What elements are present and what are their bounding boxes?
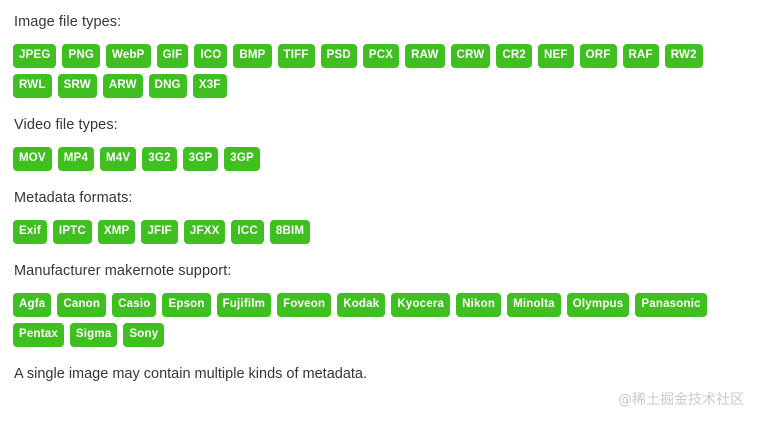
format-badge: CRW bbox=[451, 44, 491, 68]
format-badge: JFIF bbox=[141, 220, 177, 244]
format-badge: Kodak bbox=[337, 293, 385, 317]
format-badge: DNG bbox=[149, 74, 187, 98]
section-heading: Manufacturer makernote support: bbox=[14, 262, 746, 281]
format-badge: WebP bbox=[106, 44, 151, 68]
format-badge: TIFF bbox=[278, 44, 315, 68]
format-badge: ORF bbox=[580, 44, 617, 68]
section-heading: Metadata formats: bbox=[14, 189, 746, 208]
format-badge: Olympus bbox=[567, 293, 630, 317]
format-badge: MP4 bbox=[58, 147, 94, 171]
badge-row: JPEGPNGWebPGIFICOBMPTIFFPSDPCXRAWCRWCR2N… bbox=[13, 44, 746, 98]
section-makernote-support: Manufacturer makernote support:AgfaCanon… bbox=[13, 262, 746, 347]
format-badge: Agfa bbox=[13, 293, 51, 317]
format-badge: MOV bbox=[13, 147, 52, 171]
format-badge: X3F bbox=[193, 74, 227, 98]
format-badge: PSD bbox=[321, 44, 357, 68]
format-badge: PNG bbox=[62, 44, 100, 68]
badge-row: ExifIPTCXMPJFIFJFXXICC8BIM bbox=[13, 220, 746, 244]
format-badge: SRW bbox=[58, 74, 97, 98]
format-badge: Panasonic bbox=[635, 293, 706, 317]
format-badge: GIF bbox=[157, 44, 189, 68]
badge-row: AgfaCanonCasioEpsonFujifilmFoveonKodakKy… bbox=[13, 293, 746, 347]
format-badge: NEF bbox=[538, 44, 574, 68]
section-image-file-types: Image file types:JPEGPNGWebPGIFICOBMPTIF… bbox=[13, 13, 746, 98]
format-badge: RAW bbox=[405, 44, 444, 68]
document-body: Image file types:JPEGPNGWebPGIFICOBMPTIF… bbox=[0, 0, 758, 423]
format-badge: IPTC bbox=[53, 220, 92, 244]
format-badge: RAF bbox=[623, 44, 659, 68]
format-badge: CR2 bbox=[496, 44, 532, 68]
badge-row: MOVMP4M4V3G23GP3GP bbox=[13, 147, 746, 171]
format-badge: Epson bbox=[162, 293, 210, 317]
sections-container: Image file types:JPEGPNGWebPGIFICOBMPTIF… bbox=[13, 13, 746, 347]
format-badge: Sony bbox=[123, 323, 164, 347]
format-badge: 8BIM bbox=[270, 220, 310, 244]
format-badge: Canon bbox=[57, 293, 106, 317]
format-badge: M4V bbox=[100, 147, 136, 171]
format-badge: Exif bbox=[13, 220, 47, 244]
format-badge: Nikon bbox=[456, 293, 501, 317]
format-badge: RWL bbox=[13, 74, 52, 98]
section-heading: Video file types: bbox=[14, 116, 746, 135]
format-badge: 3GP bbox=[224, 147, 260, 171]
format-badge: Casio bbox=[112, 293, 156, 317]
section-metadata-formats: Metadata formats:ExifIPTCXMPJFIFJFXXICC8… bbox=[13, 189, 746, 244]
format-badge: ARW bbox=[103, 74, 143, 98]
format-badge: ICC bbox=[231, 220, 263, 244]
format-badge: Sigma bbox=[70, 323, 118, 347]
format-badge: 3G2 bbox=[142, 147, 176, 171]
format-badge: Kyocera bbox=[391, 293, 450, 317]
section-heading: Image file types: bbox=[14, 13, 746, 32]
format-badge: BMP bbox=[233, 44, 271, 68]
footer-note: A single image may contain multiple kind… bbox=[14, 365, 746, 384]
format-badge: JFXX bbox=[184, 220, 226, 244]
format-badge: RW2 bbox=[665, 44, 703, 68]
watermark: @稀土掘金技术社区 bbox=[618, 391, 744, 409]
format-badge: ICO bbox=[194, 44, 227, 68]
format-badge: Minolta bbox=[507, 293, 561, 317]
section-video-file-types: Video file types:MOVMP4M4V3G23GP3GP bbox=[13, 116, 746, 171]
format-badge: XMP bbox=[98, 220, 136, 244]
format-badge: PCX bbox=[363, 44, 399, 68]
format-badge: JPEG bbox=[13, 44, 56, 68]
format-badge: Fujifilm bbox=[217, 293, 272, 317]
format-badge: 3GP bbox=[183, 147, 219, 171]
format-badge: Pentax bbox=[13, 323, 64, 347]
format-badge: Foveon bbox=[277, 293, 331, 317]
